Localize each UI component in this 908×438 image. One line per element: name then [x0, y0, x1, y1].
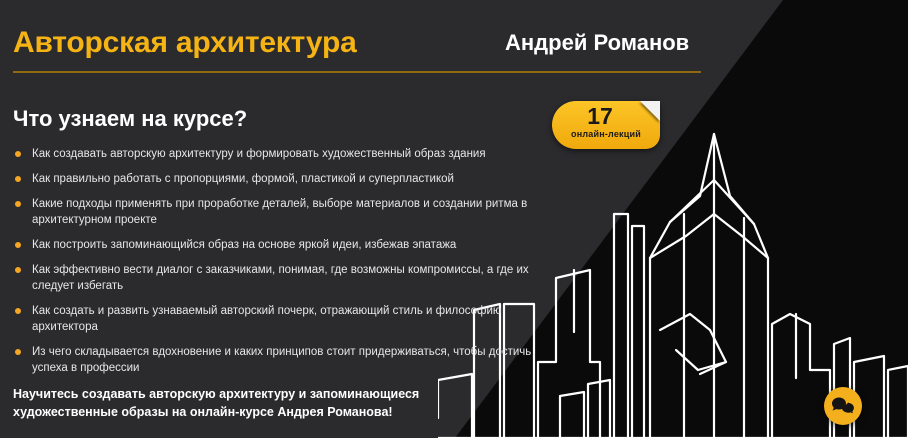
- bullet-dot-icon: [15, 176, 21, 182]
- list-item-label: Как эффективно вести диалог с заказчикам…: [32, 264, 529, 292]
- list-item-label: Как создать и развить узнаваемый авторск…: [32, 305, 502, 333]
- bullet-dot-icon: [15, 349, 21, 355]
- slide-canvas: Авторская архитектура Андрей Романов Что…: [0, 0, 908, 438]
- bullet-dot-icon: [15, 201, 21, 207]
- section-heading: Что узнаем на курсе?: [13, 106, 247, 132]
- lecture-count-badge: 17 онлайн-лекций: [552, 101, 660, 149]
- list-item: Как построить запоминающийся образ на ос…: [13, 237, 553, 253]
- list-item: Какие подходы применять при проработке д…: [13, 196, 553, 228]
- list-item: Как создать и развить узнаваемый авторск…: [13, 303, 553, 335]
- chat-widget-button[interactable]: [824, 387, 862, 425]
- author-name: Андрей Романов: [505, 30, 689, 56]
- header-divider: [13, 71, 701, 73]
- list-item-label: Из чего складывается вдохновение и каких…: [32, 346, 531, 374]
- course-topics-list: Как создавать авторскую архитектуру и фо…: [13, 146, 553, 385]
- list-item-label: Как создавать авторскую архитектуру и фо…: [32, 148, 486, 160]
- bullet-dot-icon: [15, 242, 21, 248]
- bullet-dot-icon: [15, 308, 21, 314]
- bullet-dot-icon: [15, 267, 21, 273]
- list-item: Из чего складывается вдохновение и каких…: [13, 344, 553, 376]
- badge-count: 17: [552, 104, 648, 129]
- list-item: Как эффективно вести диалог с заказчикам…: [13, 262, 553, 294]
- list-item: Как правильно работать с пропорциями, фо…: [13, 171, 553, 187]
- list-item: Как создавать авторскую архитектуру и фо…: [13, 146, 553, 162]
- list-item-label: Как построить запоминающийся образ на ос…: [32, 239, 456, 251]
- badge-caption: онлайн-лекций: [552, 129, 660, 139]
- chat-bubble-icon: [831, 396, 855, 417]
- bullet-dot-icon: [15, 151, 21, 157]
- page-title: Авторская архитектура: [13, 26, 357, 60]
- list-item-label: Какие подходы применять при проработке д…: [32, 198, 527, 226]
- list-item-label: Как правильно работать с пропорциями, фо…: [32, 173, 454, 185]
- header: Авторская архитектура Андрей Романов: [0, 0, 908, 86]
- footer-call-to-action: Научитесь создавать авторскую архитектур…: [13, 385, 493, 421]
